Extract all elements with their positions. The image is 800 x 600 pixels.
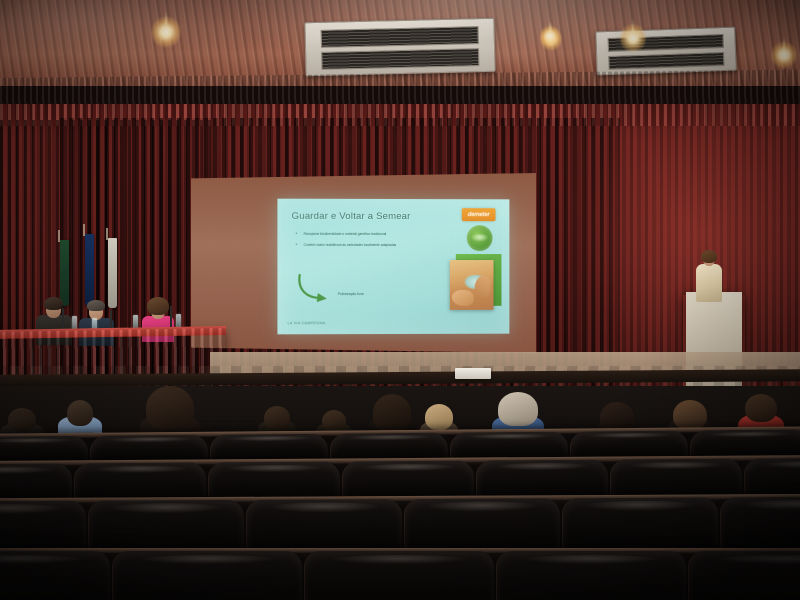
projection-screen: Guardar e Voltar a Semear Recuperar biod… (277, 199, 509, 335)
audience-person-head (373, 394, 411, 432)
slide-bullet: Recuperar biodiversidade e material gené… (296, 232, 414, 237)
ac-vent (321, 48, 479, 70)
flag-green (60, 240, 69, 306)
auditorium-seat[interactable] (688, 551, 800, 600)
auditorium-seat[interactable] (720, 497, 800, 556)
audience-person-head (67, 400, 93, 426)
ac-vent (608, 51, 724, 69)
audience-person-head (673, 400, 707, 430)
microphone-stand (62, 308, 64, 330)
demeter-logo: demeter (462, 208, 496, 221)
slide-title: Guardar e Voltar a Semear (292, 211, 411, 222)
slide-photo-seeds (450, 254, 502, 312)
air-conditioner-unit-left (304, 18, 495, 77)
audience-person-head (146, 386, 194, 430)
auditorium-photo: Guardar e Voltar a Semear Recuperar biod… (0, 0, 800, 600)
audience-person-head (498, 392, 538, 426)
panelist-hair (87, 300, 105, 311)
audience-person-head (425, 404, 453, 430)
auditorium-seat[interactable] (112, 551, 302, 600)
curved-arrow-icon (296, 271, 340, 305)
slide-footer-logo: LA VIA CAMPESINA (288, 322, 326, 326)
slide-arrow-label: Polinização livre (338, 292, 364, 296)
flag-white (108, 238, 117, 308)
panelist-hair (44, 297, 63, 310)
ac-vent (321, 26, 479, 48)
flag-blue (85, 234, 94, 306)
audience-person-head (322, 410, 346, 432)
auditorium-seat[interactable] (0, 551, 110, 600)
photo-hands-holding-seeds (450, 260, 494, 310)
projector-unit (455, 368, 491, 379)
seat-row[interactable] (0, 494, 800, 557)
auditorium-seat[interactable] (304, 551, 494, 600)
green-seal-logo (467, 225, 493, 251)
curtain-lit-right (560, 104, 800, 394)
slide-bullet: Conferir maior resistência às variedades… (296, 243, 414, 248)
ceiling-spotlight (151, 15, 181, 49)
presenter-hair (701, 250, 717, 263)
presenter-at-podium (694, 252, 724, 300)
audience-person-head (745, 394, 777, 422)
audience-person-head (8, 408, 36, 432)
air-conditioner-unit-right (595, 27, 736, 76)
auditorium-seat[interactable] (496, 551, 686, 600)
audience-person-head (264, 406, 290, 430)
ceiling-spotlight (540, 24, 560, 48)
slide-bullet-list: Recuperar biodiversidade e material gené… (296, 232, 414, 254)
presenter-body (696, 264, 722, 302)
ceiling-spotlight (620, 22, 646, 54)
ceiling-spotlight (771, 40, 797, 70)
seat-row[interactable] (0, 548, 800, 600)
panelist-hair (147, 297, 169, 315)
